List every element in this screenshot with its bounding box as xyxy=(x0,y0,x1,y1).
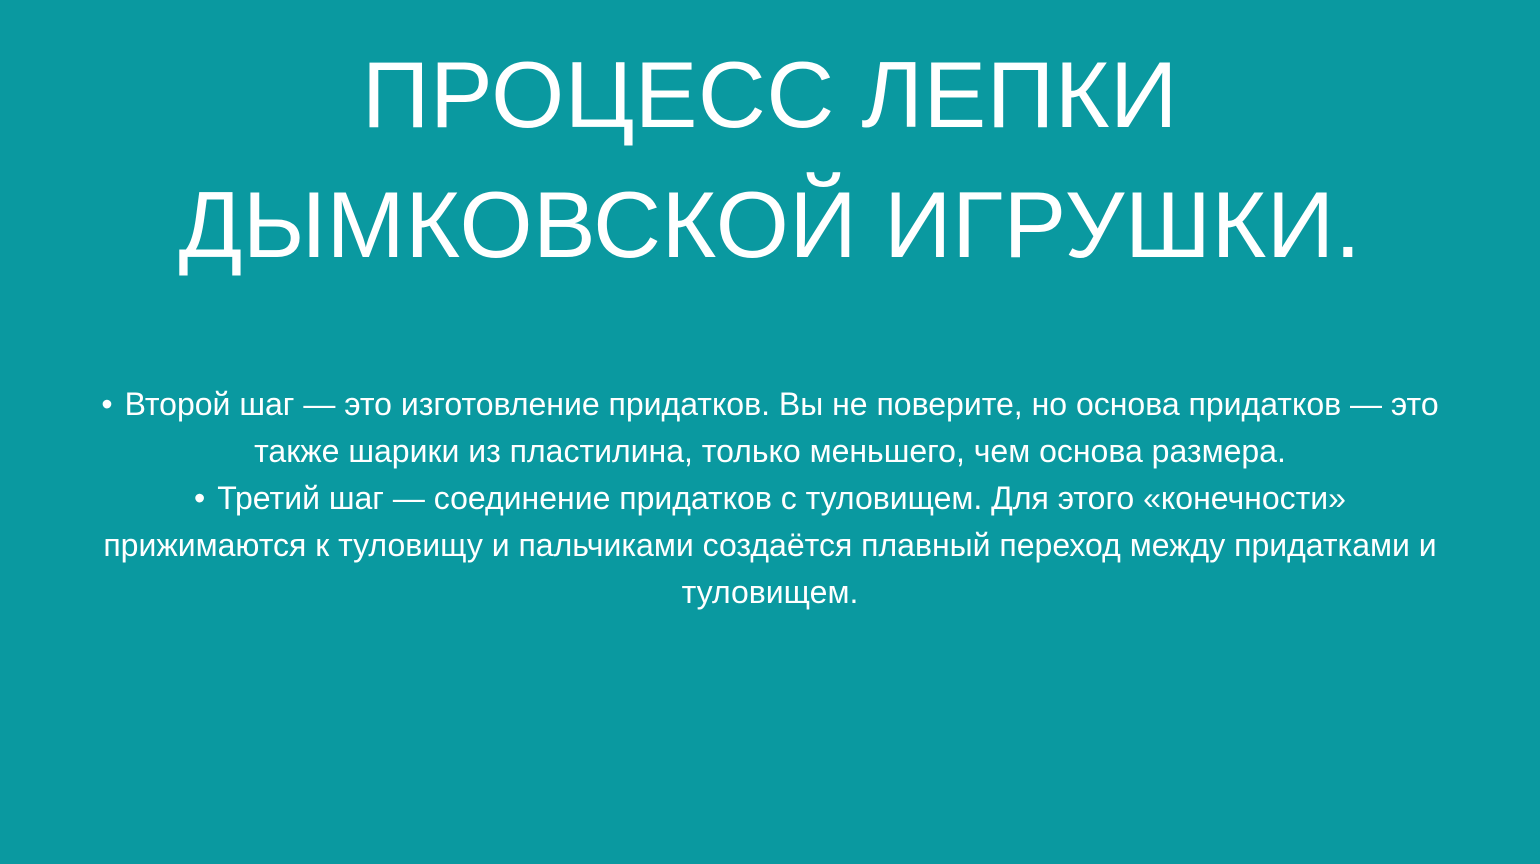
list-item-label: Второй шаг — это изготовление придатков.… xyxy=(125,386,1439,469)
page-title: ПРОЦЕСС ЛЕПКИ ДЫМКОВСКОЙ ИГРУШКИ. xyxy=(78,30,1462,290)
bullet-point-icon: • xyxy=(194,480,205,516)
list-item: •Второй шаг — это изготовление придатков… xyxy=(100,381,1440,475)
presentation-slide: ПРОЦЕСС ЛЕПКИ ДЫМКОВСКОЙ ИГРУШКИ. •Второ… xyxy=(0,0,1540,864)
bullet-point-icon: • xyxy=(101,386,112,422)
slide-title-block: ПРОЦЕСС ЛЕПКИ ДЫМКОВСКОЙ ИГРУШКИ. xyxy=(78,30,1462,290)
slide-body-block: •Второй шаг — это изготовление придатков… xyxy=(100,381,1440,616)
list-item-label: Третий шаг — соединение придатков с туло… xyxy=(103,480,1436,610)
list-item: •Третий шаг — соединение придатков с тул… xyxy=(100,475,1440,616)
